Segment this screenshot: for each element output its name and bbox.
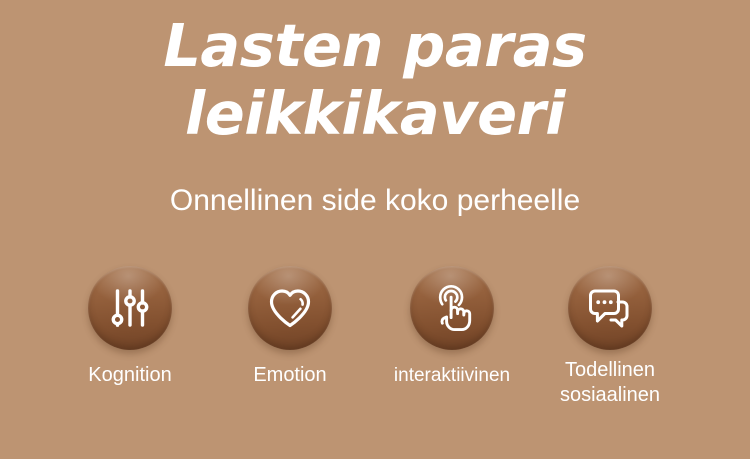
feature-item-kognition: Kognition [53,266,207,388]
feature-list: Kognition Emotion [0,266,750,441]
feature-badge [410,266,494,350]
promo-banner: Lasten paras leikkikaveri Onnellinen sid… [0,0,750,459]
feature-item-todellinen-sosiaalinen: Todellinen sosiaalinen [537,266,683,408]
feature-badge [88,266,172,350]
feature-label: interaktiivinen [363,363,541,388]
feature-label: Emotion [221,363,359,388]
page-subtitle: Onnellinen side koko perheelle [0,183,750,219]
feature-item-interaktiivinen: interaktiivinen [363,266,541,388]
feature-badge [568,266,652,350]
page-title: Lasten paras leikkikaveri [0,12,750,148]
feature-item-emotion: Emotion [221,266,359,388]
feature-label: Kognition [53,363,207,388]
feature-label: Todellinen sosiaalinen [537,358,683,408]
feature-badge [248,266,332,350]
headline-line-1: Lasten paras [0,12,750,80]
headline-line-2: leikkikaveri [0,80,750,148]
